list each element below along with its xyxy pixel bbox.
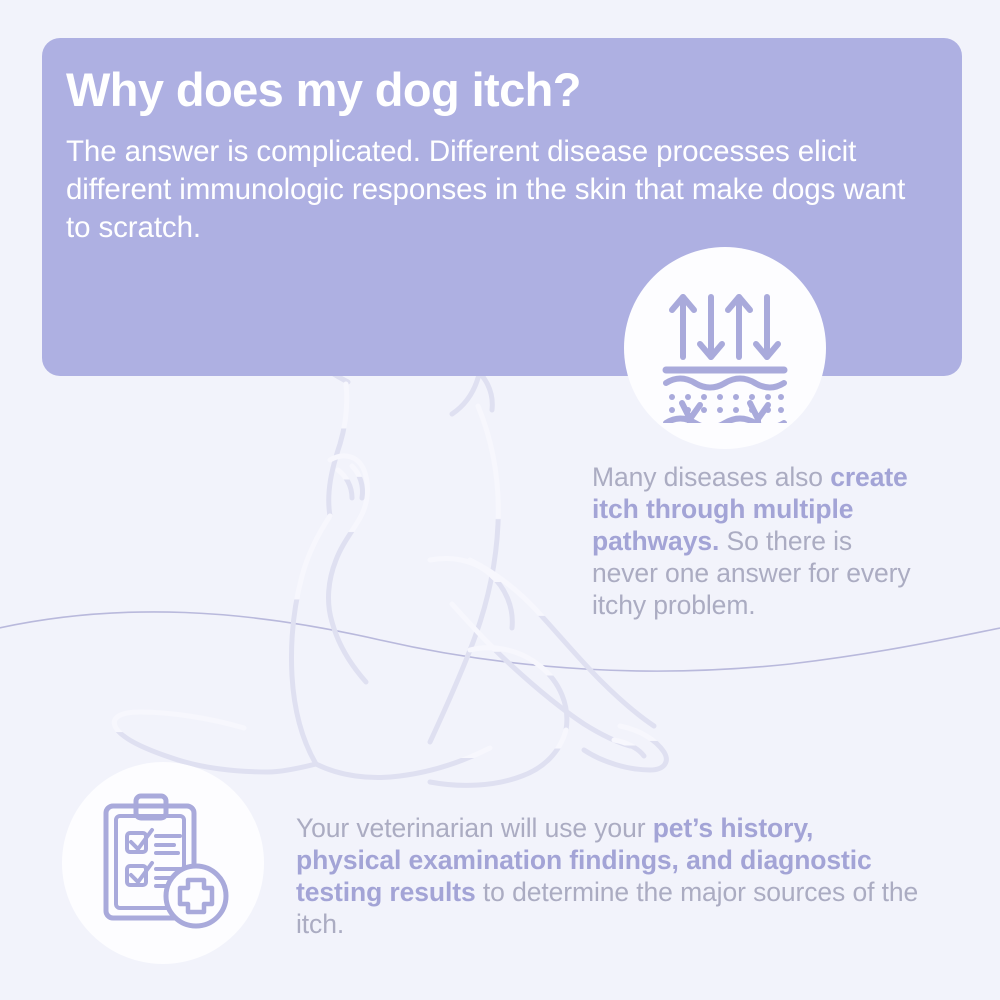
dog-hind-leg-extended-lower <box>452 604 630 746</box>
dog-paw-toes-front-2 <box>352 466 363 498</box>
medical-badge-circle <box>166 866 226 926</box>
vet-text-lead: Your veterinarian will use your <box>296 813 653 843</box>
dog-spine <box>430 406 498 742</box>
hero-card: Why does my dog itch? The answer is comp… <box>42 38 962 376</box>
veterinarian-paragraph: Your veterinarian will use your pet’s hi… <box>296 812 921 940</box>
clipboard-checklist-medical-icon <box>88 788 238 938</box>
dog-belly <box>316 748 490 778</box>
pathways-text-lead: Many diseases also <box>592 462 830 492</box>
dog-paw-toes-front <box>338 470 352 498</box>
clipboard-checklist-badge <box>62 762 264 964</box>
dog-chest <box>291 516 330 764</box>
hero-body-text: The answer is complicated. Different dis… <box>66 133 926 247</box>
page-title: Why does my dog itch? <box>66 64 932 117</box>
dog-rear-paw-toes <box>614 740 644 756</box>
skin-wave-2 <box>666 419 784 424</box>
dog-rear-paw <box>584 726 666 770</box>
skin-dot-row-1 <box>669 394 784 400</box>
pathways-paragraph: Many diseases also create itch through m… <box>592 461 922 621</box>
dog-back <box>430 559 512 628</box>
infographic-canvas: Why does my dog itch? The answer is comp… <box>0 0 1000 1000</box>
dog-jaw-to-chest <box>329 384 347 516</box>
dog-tail <box>430 730 566 785</box>
dog-hind-leg-scratching <box>329 456 368 682</box>
skin-barrier-badge <box>624 247 826 449</box>
skin-barrier-arrows-icon <box>650 273 800 423</box>
dog-rump <box>470 648 567 730</box>
skin-wave-1 <box>666 379 784 388</box>
